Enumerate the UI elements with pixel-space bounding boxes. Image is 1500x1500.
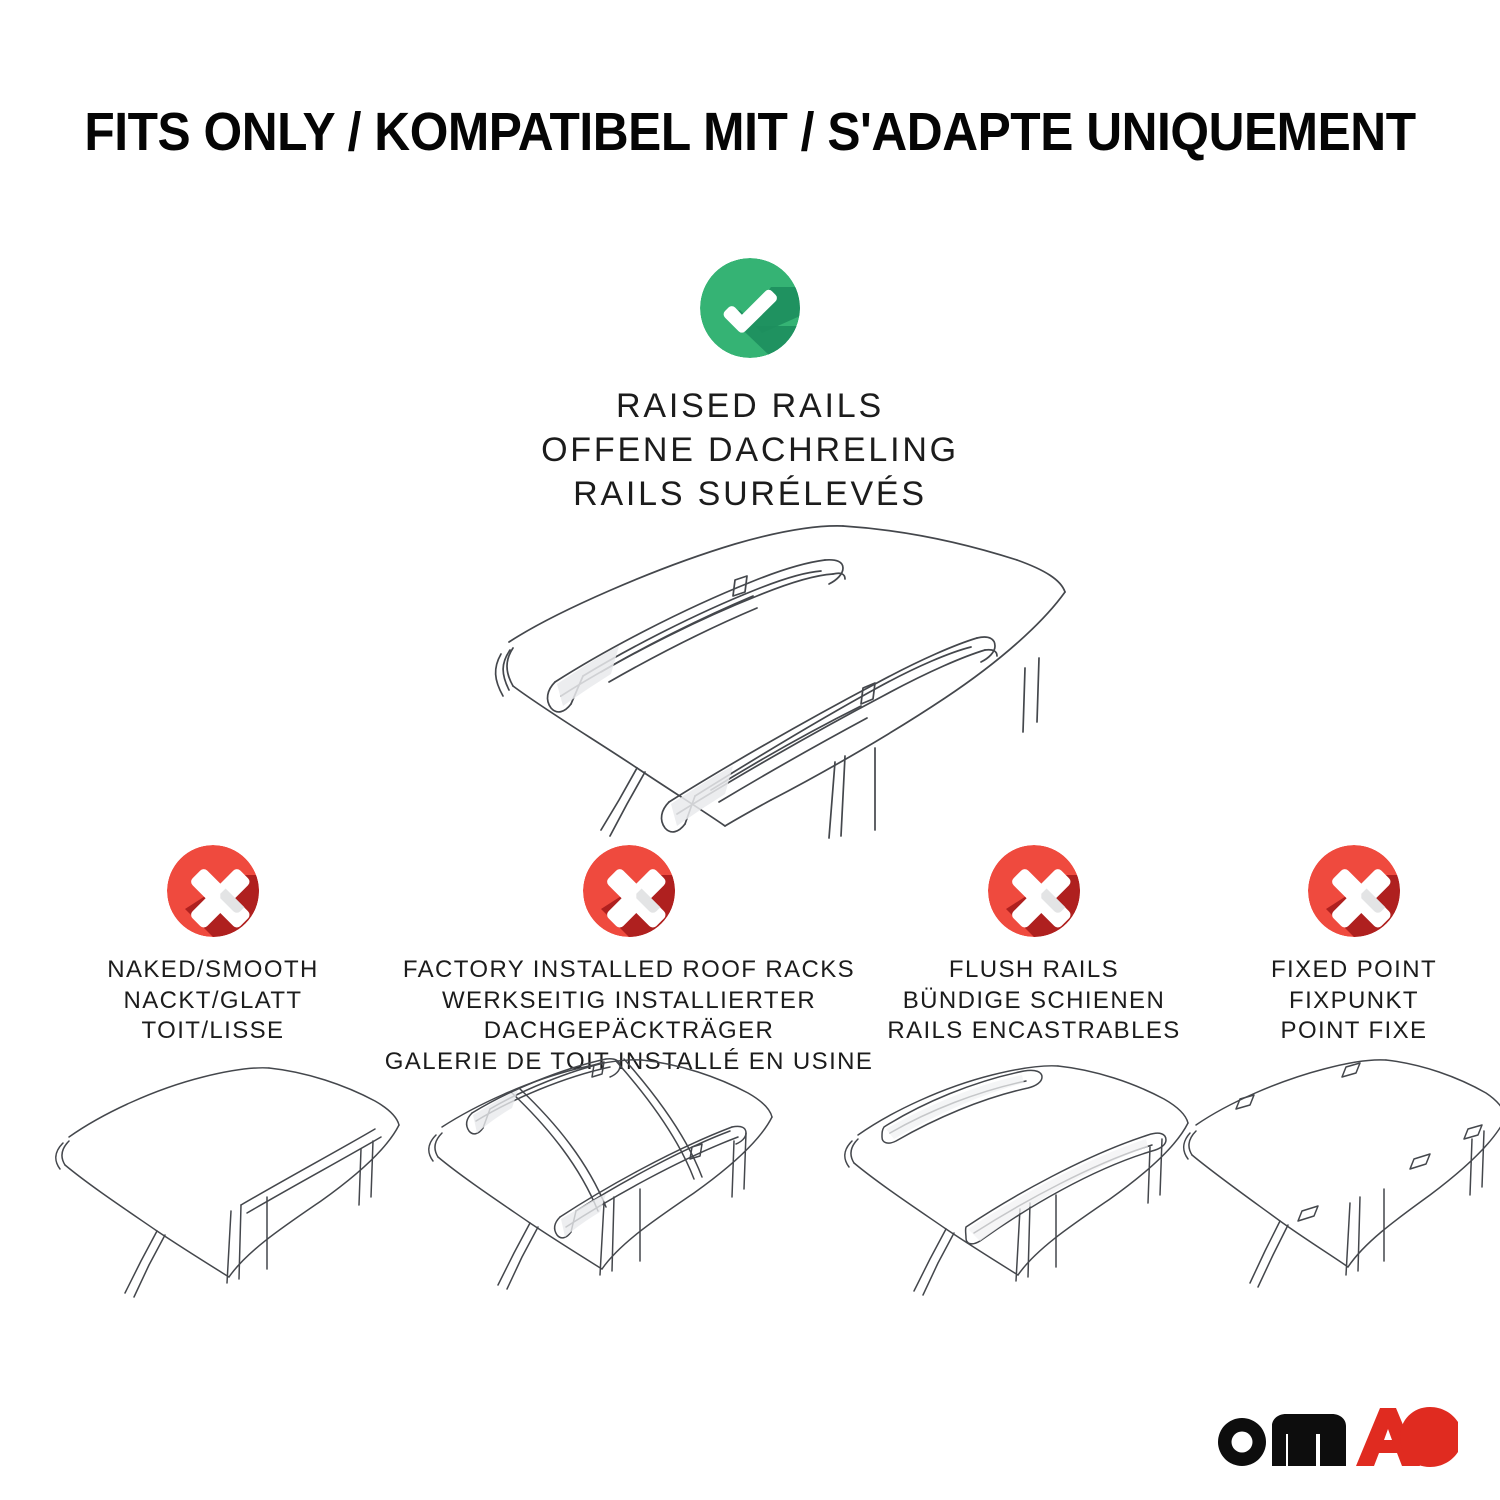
car-roof-flush-rails-illustration (838, 1055, 1223, 1310)
compatible-section: RAISED RAILS OFFENE DACHRELING RAILS SUR… (0, 258, 1500, 517)
incompatible-item-flush-rails: FLUSH RAILS BÜNDIGE SCHIENEN RAILS ENCAS… (866, 845, 1202, 1047)
incompatible-label-line-3: POINT FIXE (1271, 1016, 1437, 1047)
x-circle-icon (1308, 845, 1400, 937)
incompatible-label-line-2: BÜNDIGE SCHIENEN (887, 986, 1180, 1017)
incompatible-label-line-1: NAKED/SMOOTH (107, 955, 318, 986)
header: FITS ONLY / KOMPATIBEL MIT / S'ADAPTE UN… (0, 104, 1500, 161)
incompatible-label-line-1: FACTORY INSTALLED ROOF RACKS (385, 955, 874, 986)
car-roof-naked-smooth-illustration (45, 1055, 425, 1310)
x-circle-icon (583, 845, 675, 937)
incompatible-illustrations-row (0, 1055, 1500, 1310)
incompatible-label-line-3: TOIT/LISSE (107, 1016, 318, 1047)
incompatible-label-line-3: DACHGEPÄCKTRÄGER (385, 1016, 874, 1047)
x-circle-icon (988, 845, 1080, 937)
incompatible-item-factory-roof-racks: FACTORY INSTALLED ROOF RACKS WERKSEITIG … (398, 845, 860, 1078)
page-title: FITS ONLY / KOMPATIBEL MIT / S'ADAPTE UN… (60, 104, 1440, 161)
incompatible-label-line-2: NACKT/GLATT (107, 986, 318, 1017)
incompatible-label: FIXED POINT FIXPUNKT POINT FIXE (1271, 955, 1437, 1047)
incompatible-label-line-2: FIXPUNKT (1271, 986, 1437, 1017)
x-circle-icon (167, 845, 259, 937)
compatible-label: RAISED RAILS OFFENE DACHRELING RAILS SUR… (541, 384, 959, 517)
incompatible-label-line-1: FIXED POINT (1271, 955, 1437, 986)
incompatible-label-line-3: RAILS ENCASTRABLES (887, 1016, 1180, 1047)
incompatible-label-line-2: WERKSEITIG INSTALLIERTER (385, 986, 874, 1017)
car-roof-fixed-point-illustration (1178, 1055, 1500, 1310)
incompatible-item-fixed-point: FIXED POINT FIXPUNKT POINT FIXE (1208, 845, 1500, 1047)
compatible-label-line-2: OFFENE DACHRELING (541, 428, 959, 472)
car-roof-factory-installed-roof-racks-illustration (420, 1055, 810, 1310)
compatible-label-line-1: RAISED RAILS (541, 384, 959, 428)
omac-logo (1208, 1406, 1458, 1468)
incompatible-label: FLUSH RAILS BÜNDIGE SCHIENEN RAILS ENCAS… (887, 955, 1180, 1047)
car-roof-with-raised-rails-illustration (405, 500, 1095, 840)
check-circle-icon (700, 258, 800, 358)
incompatible-label: NAKED/SMOOTH NACKT/GLATT TOIT/LISSE (107, 955, 318, 1047)
incompatible-label-line-1: FLUSH RAILS (887, 955, 1180, 986)
incompatible-item-naked-smooth: NAKED/SMOOTH NACKT/GLATT TOIT/LISSE (35, 845, 391, 1047)
